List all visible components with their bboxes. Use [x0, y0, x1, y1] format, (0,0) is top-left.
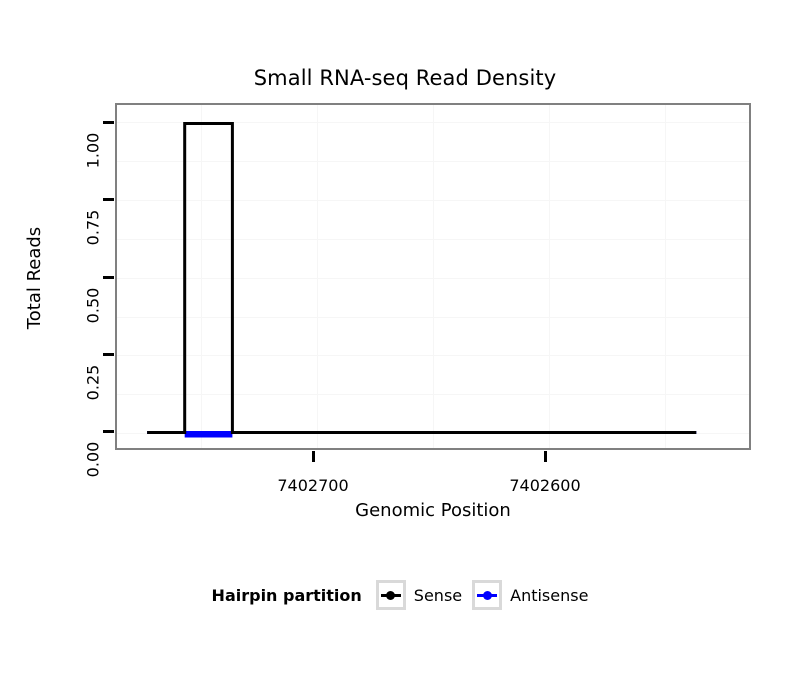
- legend-point-antisense: [483, 591, 492, 600]
- y-tick-label-0_75: 0.75: [84, 201, 103, 255]
- y-axis-label: Total Reads: [24, 188, 45, 368]
- y-tick-mark-1_00: [103, 121, 114, 124]
- y-tick-label-0_50: 0.50: [84, 279, 103, 333]
- y-tick-mark-0_00: [103, 430, 114, 433]
- x-axis-label: Genomic Position: [115, 500, 751, 521]
- x-tick-mark-7402700: [312, 451, 315, 462]
- y-tick-mark-0_25: [103, 353, 114, 356]
- chart-title: Small RNA-seq Read Density: [0, 66, 810, 90]
- legend-title: Hairpin partition: [212, 586, 362, 605]
- legend-label-antisense: Antisense: [510, 586, 588, 605]
- x-tick-mark-7402600: [544, 451, 547, 462]
- legend-entry-antisense[interactable]: Antisense: [472, 580, 588, 610]
- legend: Hairpin partition Sense Antisense: [0, 580, 810, 610]
- legend-entry-sense[interactable]: Sense: [376, 580, 462, 610]
- chart-figure: Small RNA-seq Read Density Total Reads 1…: [0, 0, 810, 690]
- y-tick-mark-0_75: [103, 198, 114, 201]
- legend-label-sense: Sense: [414, 586, 462, 605]
- legend-key-antisense: [472, 580, 502, 610]
- y-tick-label-0_25: 0.25: [84, 356, 103, 410]
- y-tick-label-0_00: 0.00: [84, 433, 103, 487]
- sense-series-line: [147, 124, 696, 433]
- plot-area: [117, 105, 749, 448]
- x-tick-label-7402600: 7402600: [476, 476, 614, 495]
- series-plot: [117, 105, 749, 448]
- plot-panel: [115, 103, 751, 450]
- x-tick-label-7402700: 7402700: [244, 476, 382, 495]
- legend-key-sense: [376, 580, 406, 610]
- y-tick-label-1_00: 1.00: [84, 124, 103, 178]
- legend-point-sense: [386, 591, 395, 600]
- y-tick-mark-0_50: [103, 276, 114, 279]
